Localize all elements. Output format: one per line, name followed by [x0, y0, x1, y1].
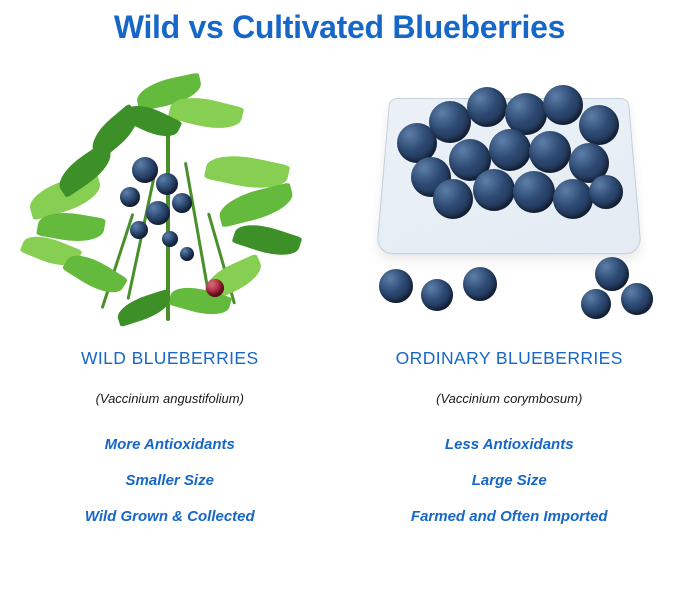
comparison-columns: WILD BLUEBERRIES (Vaccinium angustifoliu… [0, 56, 679, 525]
ordinary-feature-list: Less Antioxidants Large Size Farmed and … [411, 436, 608, 525]
comparison-infographic: Wild vs Cultivated Blueberries [0, 0, 679, 598]
ordinary-blueberry-punnet-photo [340, 56, 679, 346]
wild-caption: WILD BLUEBERRIES [81, 348, 259, 369]
wild-feature-1: More Antioxidants [105, 436, 235, 453]
blueberry-punnet-illustration [359, 61, 659, 341]
wild-blueberry-plant-illustration [20, 61, 320, 341]
ordinary-feature-2: Large Size [472, 472, 547, 489]
wild-feature-3: Wild Grown & Collected [85, 508, 255, 525]
wild-feature-2: Smaller Size [126, 472, 214, 489]
ordinary-feature-3: Farmed and Often Imported [411, 508, 608, 525]
column-ordinary-blueberries: ORDINARY BLUEBERRIES (Vaccinium corymbos… [340, 56, 679, 525]
wild-blueberry-plant-photo [0, 56, 339, 346]
column-wild-blueberries: WILD BLUEBERRIES (Vaccinium angustifoliu… [0, 56, 340, 525]
page-title: Wild vs Cultivated Blueberries [0, 0, 679, 46]
wild-latin-name: (Vaccinium angustifolium) [96, 391, 244, 406]
wild-feature-list: More Antioxidants Smaller Size Wild Grow… [85, 436, 255, 525]
ordinary-caption: ORDINARY BLUEBERRIES [396, 348, 623, 369]
ordinary-feature-1: Less Antioxidants [445, 436, 574, 453]
berry-heap [393, 83, 625, 223]
ordinary-latin-name: (Vaccinium corymbosum) [436, 391, 582, 406]
